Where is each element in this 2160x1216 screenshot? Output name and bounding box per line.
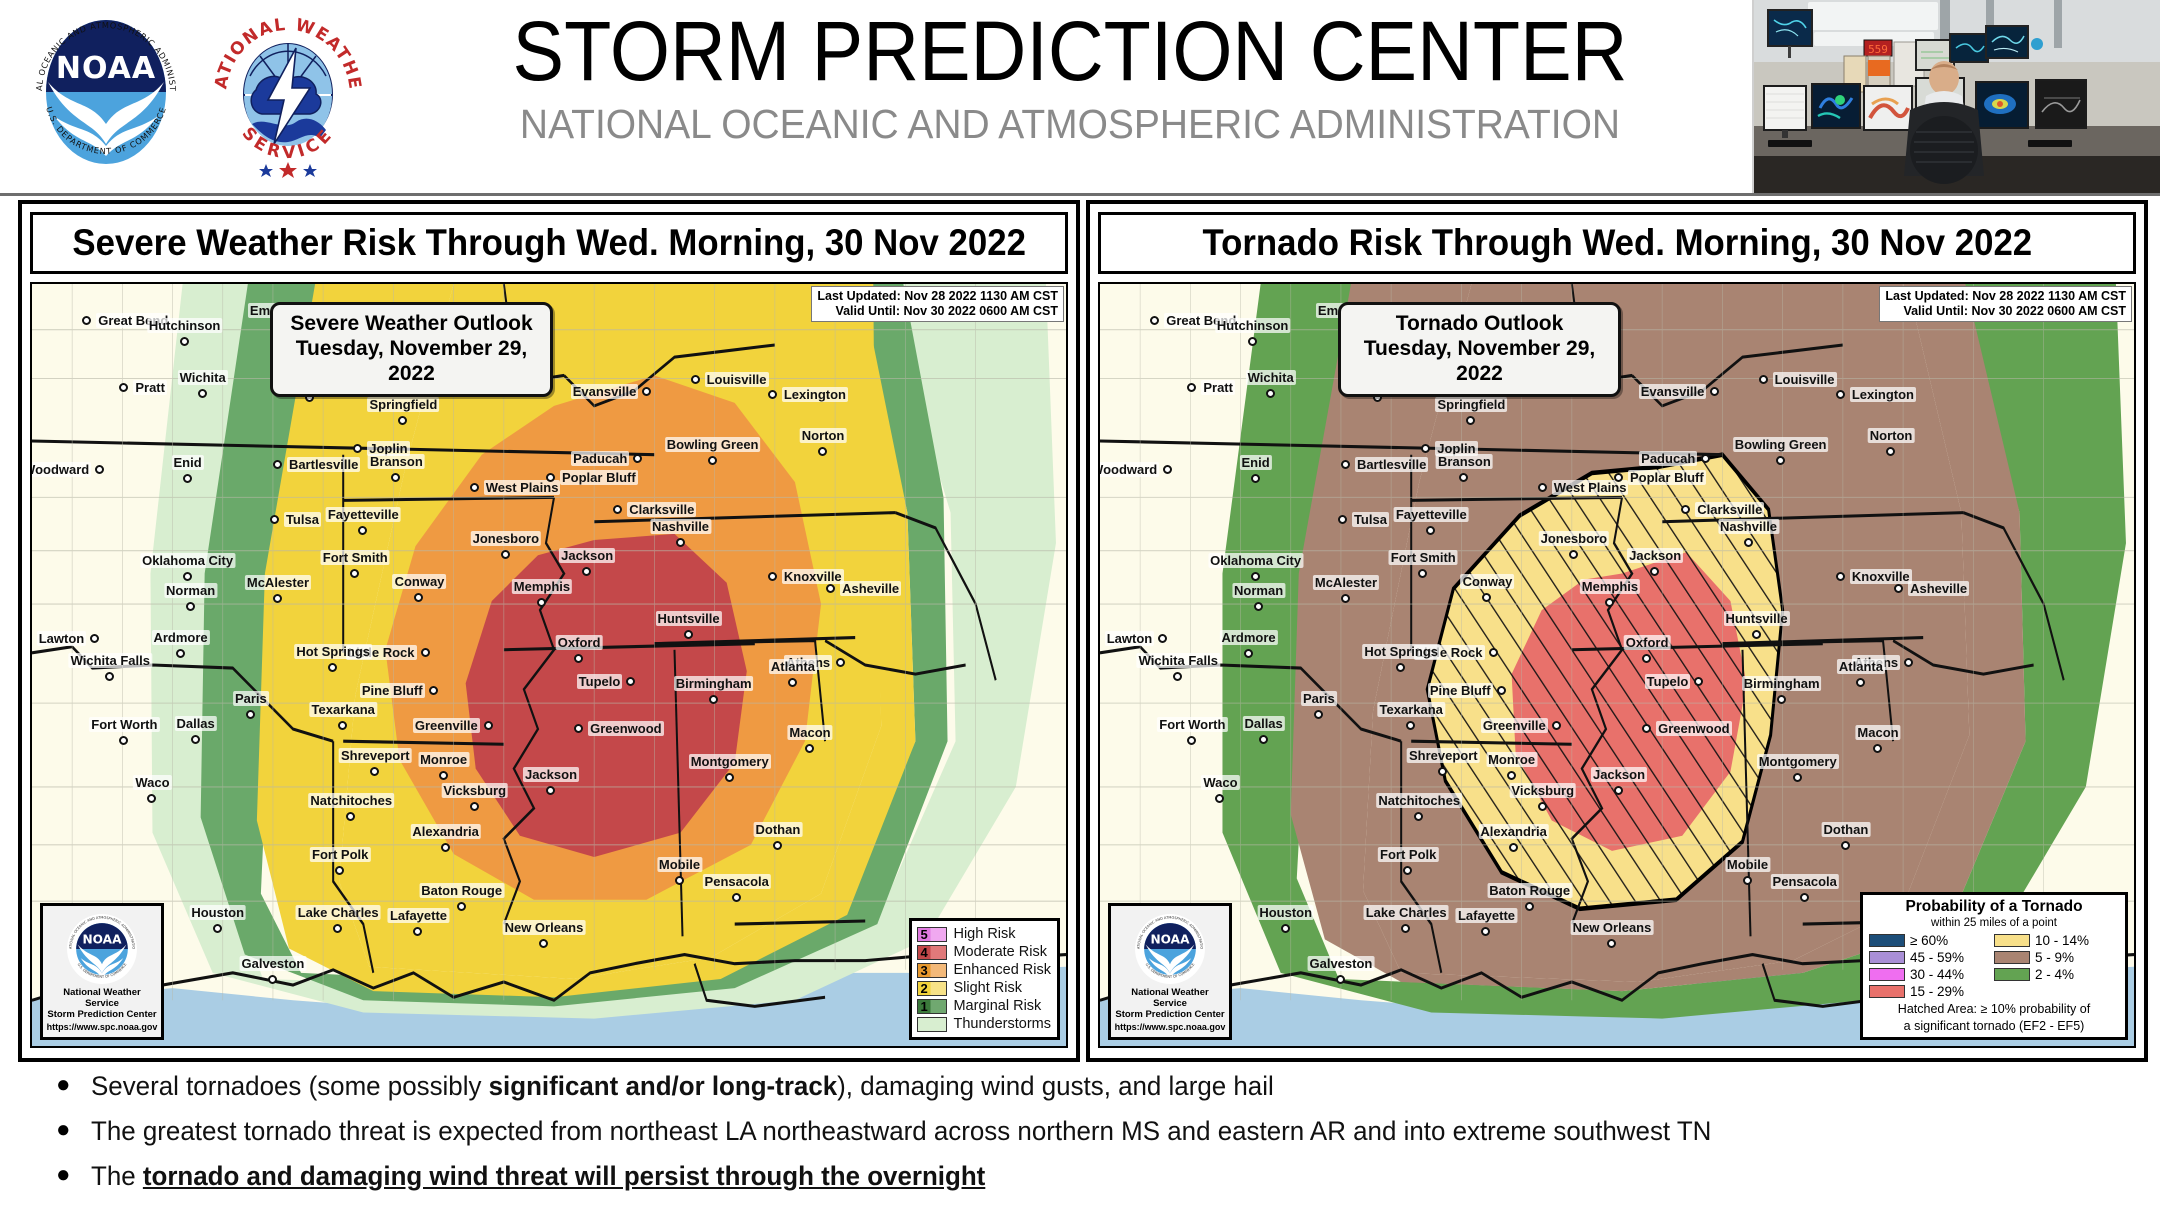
severe-valid-until: Valid Until: Nov 30 2022 0600 AM CST <box>817 304 1058 319</box>
badge-url: https://www.spc.noaa.gov <box>1114 1021 1226 1033</box>
noaa-seal-icon: NOAA NATIONAL OCEANIC AND ATMOSPHERIC AD… <box>64 911 140 987</box>
severe-legend-label: Enhanced Risk <box>953 962 1051 978</box>
badge-line1: National Weather Service <box>46 987 158 1009</box>
severe-legend-row: 1Marginal Risk <box>917 997 1051 1015</box>
tornado-last-updated: Last Updated: Nov 28 2022 1130 AM CST <box>1885 289 2126 304</box>
severe-legend-row: 5High Risk <box>917 925 1051 943</box>
header-title-block: STORM PREDICTION CENTER NATIONAL OCEANIC… <box>400 8 1740 148</box>
panel-tornado-banner-text: Tornado Risk Through Wed. Morning, 30 No… <box>1202 222 2032 264</box>
summary-bullet-list: ●Several tornadoes (some possibly signif… <box>0 1070 2160 1205</box>
tornado-legend-swatch <box>1869 985 1905 998</box>
severe-legend-label: Moderate Risk <box>953 944 1046 960</box>
severe-legend-row: 4Moderate Risk <box>917 943 1051 961</box>
tornado-legend-footnote-2: a significant tornado (EF2 - EF5) <box>1869 1019 2119 1034</box>
severe-legend-swatch: 5 <box>917 927 947 942</box>
severe-last-updated: Last Updated: Nov 28 2022 1130 AM CST <box>817 289 1058 304</box>
severe-legend-row: 2Slight Risk <box>917 979 1051 997</box>
page-title: STORM PREDICTION CENTER <box>454 8 1687 94</box>
severe-legend-category-number: 4 <box>918 946 927 959</box>
severe-legend-category-number: 2 <box>918 982 927 995</box>
tornado-legend-row: 2 - 4% <box>1994 966 2119 983</box>
tornado-legend-row: ≥ 60% <box>1869 932 1994 949</box>
severe-legend-category-number: 5 <box>918 928 927 941</box>
severe-legend-label: High Risk <box>953 926 1015 942</box>
tornado-legend-label: ≥ 60% <box>1910 933 1948 948</box>
outlook-panels: Severe Weather Risk Through Wed. Morning… <box>0 196 2160 1066</box>
severe-legend-swatch <box>917 1017 947 1032</box>
nws-logo-icon: NATIONAL WEATHER SERVICE <box>200 4 376 180</box>
svg-text:NOAA: NOAA <box>83 933 123 947</box>
severe-outlook-map[interactable]: Great BendHutchinsonEmporiaPrattWichitaC… <box>30 282 1068 1048</box>
severe-outlook-line1: Severe Weather Outlook <box>283 311 540 336</box>
severe-legend-label: Thunderstorms <box>953 1016 1051 1032</box>
severe-legend-swatch: 4 <box>917 945 947 960</box>
tornado-valid-until: Valid Until: Nov 30 2022 0600 AM CST <box>1885 304 2126 319</box>
bullet-text: The greatest tornado threat is expected … <box>91 1115 1711 1147</box>
tornado-legend-swatch <box>1994 968 2030 981</box>
tornado-legend-row: 15 - 29% <box>1869 983 1994 1000</box>
tornado-legend-swatch <box>1994 951 2030 964</box>
severe-legend-swatch: 1 <box>917 999 947 1014</box>
severe-legend-category-number: 1 <box>918 1000 927 1013</box>
tornado-legend-footnote-1: Hatched Area: ≥ 10% probability of <box>1869 1002 2119 1017</box>
tornado-legend-title: Probability of a Tornado <box>1869 898 2119 916</box>
severe-legend-swatch: 3 <box>917 963 947 978</box>
tornado-outlook-map[interactable]: Great BendHutchinsonEmporiaPrattWichitaC… <box>1098 282 2136 1048</box>
tornado-legend-row: 30 - 44% <box>1869 966 1994 983</box>
bullet-text: Several tornadoes (some possibly signifi… <box>91 1070 1274 1102</box>
tornado-legend-subtitle: within 25 miles of a point <box>1869 916 2119 930</box>
tornado-legend-label: 15 - 29% <box>1910 984 1964 999</box>
severe-outlook-label: Severe Weather Outlook Tuesday, November… <box>270 302 553 397</box>
tornado-outlook-line1: Tornado Outlook <box>1351 311 1608 336</box>
page-header: NOAA NATIONAL OCEANIC AND ATMOSPHERIC AD… <box>0 0 2160 196</box>
svg-text:NOAA: NOAA <box>1151 933 1191 947</box>
panel-severe-weather: Severe Weather Risk Through Wed. Morning… <box>18 200 1080 1062</box>
severe-risk-legend: 5High Risk4Moderate Risk3Enhanced Risk2S… <box>909 918 1060 1040</box>
bullet-marker-icon: ● <box>56 1070 71 1100</box>
page-subtitle: NATIONAL OCEANIC AND ATMOSPHERIC ADMINIS… <box>434 100 1707 148</box>
panel-tornado: Tornado Risk Through Wed. Morning, 30 No… <box>1086 200 2148 1062</box>
severe-legend-row: Thunderstorms <box>917 1015 1051 1033</box>
tornado-legend-label: 2 - 4% <box>2035 967 2074 982</box>
severe-timestamp-box: Last Updated: Nov 28 2022 1130 AM CST Va… <box>811 286 1064 322</box>
tornado-legend-swatch <box>1869 934 1905 947</box>
tornado-legend-column-1: ≥ 60%45 - 59%30 - 44%15 - 29% <box>1869 932 1994 1000</box>
severe-legend-row: 3Enhanced Risk <box>917 961 1051 979</box>
tornado-legend-column-2: 10 - 14%5 - 9%2 - 4% <box>1994 932 2119 1000</box>
badge-line1: National Weather Service <box>1114 987 1226 1009</box>
severe-legend-category-number: 3 <box>918 964 927 977</box>
bullet-emphasis: significant and/or long-track <box>488 1071 837 1101</box>
bullet-marker-icon: ● <box>56 1160 71 1190</box>
tornado-legend-row: 45 - 59% <box>1869 949 1994 966</box>
severe-map-noaa-badge: NOAA NATIONAL OCEANIC AND ATMOSPHERIC AD… <box>40 903 164 1040</box>
panel-tornado-banner: Tornado Risk Through Wed. Morning, 30 No… <box>1098 212 2136 274</box>
panel-severe-banner: Severe Weather Risk Through Wed. Morning… <box>30 212 1068 274</box>
tornado-probability-legend: Probability of a Tornado within 25 miles… <box>1860 892 2128 1040</box>
bullet-marker-icon: ● <box>56 1115 71 1145</box>
tornado-legend-swatch <box>1869 968 1905 981</box>
noaa-seal-icon: NOAA NATIONAL OCEANIC AND ATMOSPHERIC AD… <box>1132 911 1208 987</box>
summary-bullet: ●The tornado and damaging wind threat wi… <box>56 1160 2160 1192</box>
tornado-legend-row: 10 - 14% <box>1994 932 2119 949</box>
tornado-legend-label: 10 - 14% <box>2035 933 2089 948</box>
tornado-outlook-label: Tornado Outlook Tuesday, November 29, 20… <box>1338 302 1621 397</box>
tornado-outlook-line2: Tuesday, November 29, 2022 <box>1351 336 1608 386</box>
tornado-legend-label: 5 - 9% <box>2035 950 2074 965</box>
summary-bullet: ●Several tornadoes (some possibly signif… <box>56 1070 2160 1102</box>
tornado-timestamp-box: Last Updated: Nov 28 2022 1130 AM CST Va… <box>1879 286 2132 322</box>
badge-url: https://www.spc.noaa.gov <box>46 1021 158 1033</box>
bullet-text: The tornado and damaging wind threat wil… <box>91 1160 985 1192</box>
operations-floor-photo: 559 <box>1752 0 2160 193</box>
tornado-legend-swatch <box>1869 951 1905 964</box>
severe-legend-swatch: 2 <box>917 981 947 996</box>
tornado-legend-row: 5 - 9% <box>1994 949 2119 966</box>
severe-legend-label: Slight Risk <box>953 980 1022 996</box>
tornado-map-noaa-badge: NOAA NATIONAL OCEANIC AND ATMOSPHERIC AD… <box>1108 903 1232 1040</box>
tornado-legend-label: 45 - 59% <box>1910 950 1964 965</box>
panel-severe-banner-text: Severe Weather Risk Through Wed. Morning… <box>72 222 1025 264</box>
badge-line2: Storm Prediction Center <box>1114 1009 1226 1020</box>
bullet-emphasis: tornado and damaging wind threat will pe… <box>142 1161 984 1191</box>
severe-legend-label: Marginal Risk <box>953 998 1041 1014</box>
summary-bullet: ●The greatest tornado threat is expected… <box>56 1115 2160 1147</box>
noaa-logo-icon: NOAA NATIONAL OCEANIC AND ATMOSPHERIC AD… <box>18 4 194 180</box>
severe-outlook-line2: Tuesday, November 29, 2022 <box>283 336 540 386</box>
svg-text:559: 559 <box>1868 43 1888 56</box>
tornado-legend-label: 30 - 44% <box>1910 967 1964 982</box>
badge-line2: Storm Prediction Center <box>46 1009 158 1020</box>
tornado-legend-swatch <box>1994 934 2030 947</box>
svg-text:NOAA: NOAA <box>56 51 156 86</box>
